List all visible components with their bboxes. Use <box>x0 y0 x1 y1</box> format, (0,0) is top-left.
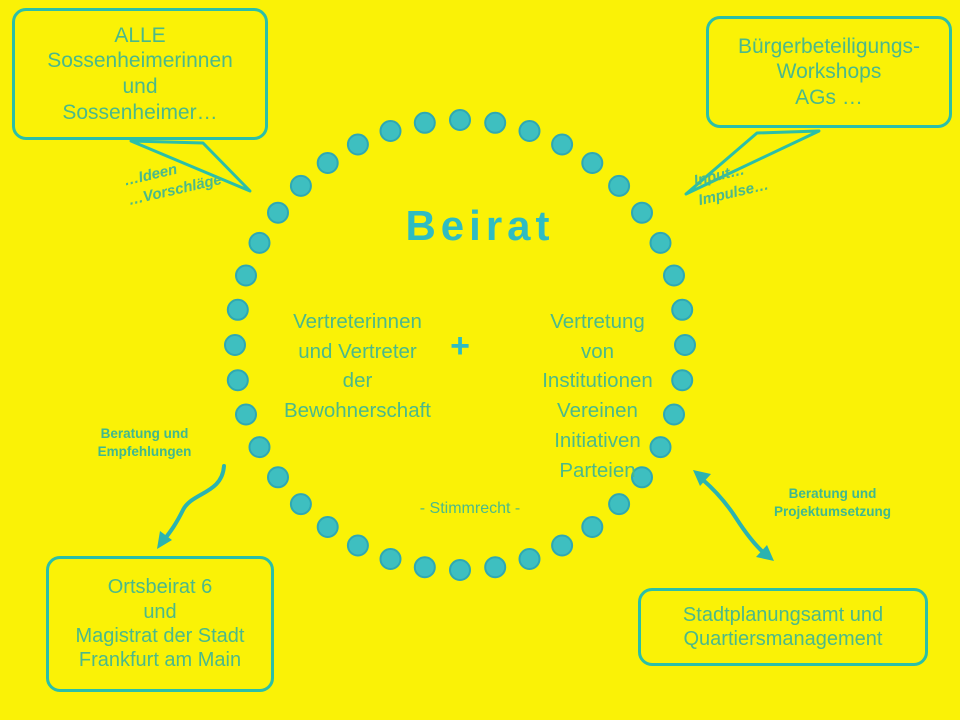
ring-dot <box>381 121 401 141</box>
ring-dot <box>250 437 270 457</box>
bubble-workshops[interactable]: Bürgerbeteiligungs- Workshops AGs … <box>706 16 952 128</box>
ring-dot <box>664 266 684 286</box>
label-beratung-und-projektumsetzung: Beratung und Projektumsetzung <box>740 485 925 521</box>
ring-dot <box>228 370 248 390</box>
bubble-workshops-text: Bürgerbeteiligungs- Workshops AGs … <box>709 34 949 111</box>
ring-dot <box>552 536 572 556</box>
center-column-right: Vertretung von Institutionen Vereinen In… <box>490 307 705 485</box>
page-title-beirat: Beirat <box>0 202 960 250</box>
ring-dot <box>291 176 311 196</box>
arrow-left-head <box>157 531 172 549</box>
bubble-all-sossenheimer[interactable]: ALLE Sossenheimerinnen und Sossenheimer… <box>12 8 268 140</box>
box-stadtplanung-text: Stadtplanungsamt und Quartiersmanagement <box>641 603 925 652</box>
center-column-left: Vertreterinnen und Vertreter der Bewohne… <box>250 307 465 426</box>
ring-dot <box>318 153 338 173</box>
ring-dot <box>236 266 256 286</box>
ring-dot <box>609 494 629 514</box>
ring-dot <box>520 549 540 569</box>
box-stadtplanung[interactable]: Stadtplanungsamt und Quartiersmanagement <box>638 588 928 666</box>
ring-dot <box>520 121 540 141</box>
ring-dot <box>228 300 248 320</box>
plus-icon: + <box>440 326 480 366</box>
ring-dot <box>582 517 602 537</box>
ring-dot <box>582 153 602 173</box>
ring-dot <box>450 110 470 130</box>
diagram-canvas: ALLE Sossenheimerinnen und Sossenheimer…… <box>0 0 960 720</box>
ring-dot <box>415 557 435 577</box>
box-ortsbeirat[interactable]: Ortsbeirat 6 und Magistrat der Stadt Fra… <box>46 556 274 692</box>
ring-dot <box>415 113 435 133</box>
arrow-left-curve <box>164 466 224 540</box>
ring-dot <box>291 494 311 514</box>
ring-dot <box>552 135 572 155</box>
bubble-all-sossenheimer-text: ALLE Sossenheimerinnen und Sossenheimer… <box>15 23 265 125</box>
box-ortsbeirat-text: Ortsbeirat 6 und Magistrat der Stadt Fra… <box>49 575 271 673</box>
label-beratung-und-empfehlungen: Beratung und Empfehlungen <box>62 425 227 461</box>
ring-dot <box>268 467 288 487</box>
footnote-stimmrecht: - Stimmrecht - <box>350 500 590 518</box>
ring-dot <box>381 549 401 569</box>
ring-dot <box>318 517 338 537</box>
ring-dot <box>348 536 368 556</box>
ring-dot <box>609 176 629 196</box>
ring-dot <box>225 335 245 355</box>
ring-dot <box>450 560 470 580</box>
ring-dot <box>348 135 368 155</box>
ring-dot <box>485 113 505 133</box>
ring-dot <box>485 557 505 577</box>
arrow-right-head-lower <box>756 545 774 561</box>
